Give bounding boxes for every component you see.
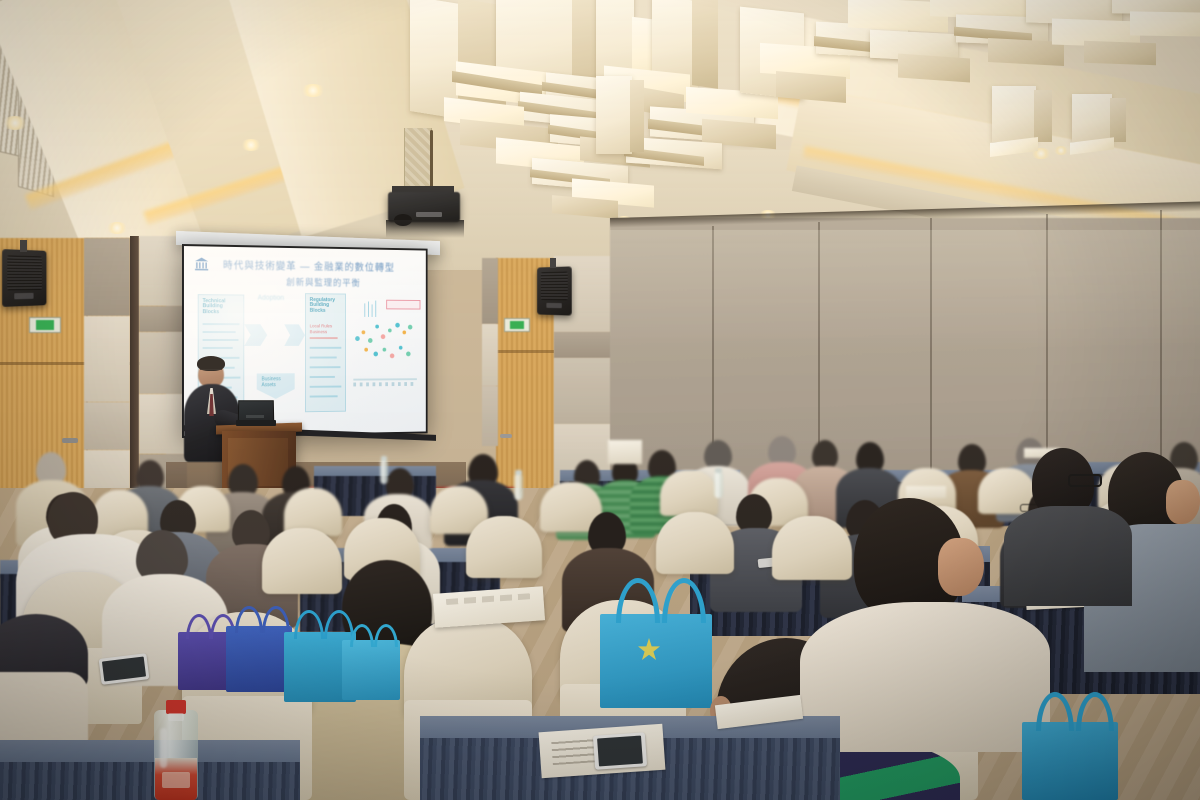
attendee-torso: [1004, 506, 1132, 606]
tote-bag-blue: [226, 606, 292, 692]
tote-bag-cyan: [1022, 692, 1118, 800]
attendee-face: [938, 538, 984, 596]
table-skirt: [0, 762, 300, 800]
conference-room-photo: 時代與技術變革 — 金融業的數位轉型 創新與監理的平衡 Technical Bu…: [0, 0, 1200, 800]
eyeglasses-icon: [1068, 474, 1102, 487]
tote-bag-cyan: [342, 624, 400, 700]
attendee-foreground-right: [816, 498, 1036, 738]
water-bottle: [154, 700, 198, 800]
attendee-right-dark-tee: [1010, 448, 1130, 598]
smartphone: [593, 732, 647, 770]
attendee-face: [1166, 480, 1200, 524]
